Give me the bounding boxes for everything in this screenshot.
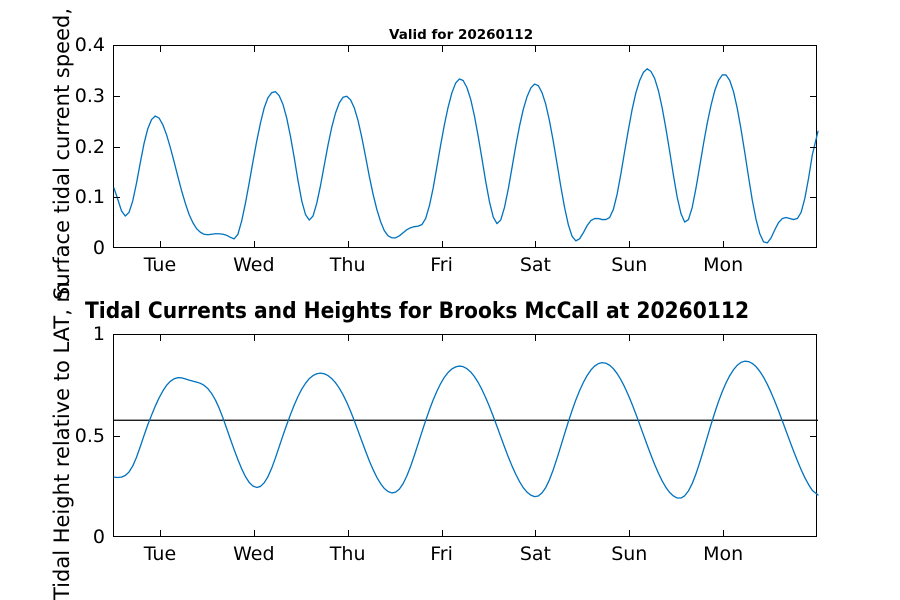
x-tick-label: Thu	[330, 254, 366, 276]
x-tick-mark	[629, 241, 630, 248]
bottom-chart-plot-area	[113, 334, 817, 537]
x-tick-label: Wed	[233, 543, 274, 565]
x-tick-label: Fri	[430, 254, 453, 276]
top-chart-plot-area	[113, 45, 817, 248]
x-tick-mark	[629, 334, 630, 341]
y-tick-label: 0.3	[75, 85, 105, 107]
y-tick-label: 0	[93, 526, 105, 548]
x-tick-label: Sat	[520, 543, 551, 565]
tidal-current-speed-curve	[114, 69, 818, 243]
main-chart-title: Tidal Currents and Heights for Brooks Mc…	[85, 298, 749, 324]
x-tick-mark	[348, 530, 349, 537]
y-tick-mark	[113, 96, 120, 97]
x-tick-mark	[160, 241, 161, 248]
y-tick-label: 1	[93, 323, 105, 345]
y-tick-mark	[810, 147, 817, 148]
x-tick-mark	[723, 530, 724, 537]
x-tick-mark	[160, 334, 161, 341]
x-tick-mark	[535, 241, 536, 248]
x-tick-label: Fri	[430, 543, 453, 565]
top-chart-curve-svg	[114, 46, 818, 249]
x-tick-mark	[442, 241, 443, 248]
x-tick-mark	[442, 45, 443, 52]
x-tick-mark	[348, 45, 349, 52]
x-tick-label: Sat	[520, 254, 551, 276]
y-tick-mark	[810, 197, 817, 198]
x-tick-mark	[723, 45, 724, 52]
x-tick-label: Tue	[144, 543, 176, 565]
y-tick-label: 0.2	[75, 136, 105, 158]
y-tick-label: 0	[93, 237, 105, 259]
x-tick-mark	[629, 530, 630, 537]
y-tick-mark	[810, 436, 817, 437]
x-tick-mark	[442, 530, 443, 537]
x-tick-mark	[535, 530, 536, 537]
x-tick-mark	[723, 334, 724, 341]
top-chart-y-axis-label: Surface tidal current speed, kn	[50, 0, 74, 300]
x-tick-label: Wed	[233, 254, 274, 276]
x-tick-mark	[160, 530, 161, 537]
bottom-chart-y-axis-label: Tidal Height relative to LAT, m	[50, 282, 74, 600]
x-tick-label: Thu	[330, 543, 366, 565]
y-tick-label: 0.5	[75, 425, 105, 447]
y-tick-label: 0.4	[75, 34, 105, 56]
y-tick-mark	[810, 96, 817, 97]
bottom-chart-curve-svg	[114, 335, 818, 538]
y-tick-mark	[113, 436, 120, 437]
x-tick-mark	[254, 45, 255, 52]
tidal-height-curve	[114, 361, 818, 498]
x-tick-mark	[348, 334, 349, 341]
tidal-figure: Surface tidal current speed, kn Tidal He…	[0, 0, 900, 600]
x-tick-mark	[254, 530, 255, 537]
y-tick-mark	[113, 197, 120, 198]
x-tick-mark	[629, 45, 630, 52]
x-tick-mark	[442, 334, 443, 341]
x-tick-label: Sun	[611, 254, 647, 276]
y-tick-label: 0.1	[75, 186, 105, 208]
x-tick-mark	[254, 241, 255, 248]
y-tick-mark	[113, 147, 120, 148]
top-chart-subtitle: Valid for 20260112	[389, 27, 533, 43]
x-tick-mark	[535, 334, 536, 341]
x-tick-mark	[348, 241, 349, 248]
x-tick-mark	[535, 45, 536, 52]
x-tick-label: Mon	[703, 254, 743, 276]
x-tick-mark	[723, 241, 724, 248]
x-tick-mark	[254, 334, 255, 341]
x-tick-label: Sun	[611, 543, 647, 565]
x-tick-label: Tue	[144, 254, 176, 276]
x-tick-label: Mon	[703, 543, 743, 565]
x-tick-mark	[160, 45, 161, 52]
